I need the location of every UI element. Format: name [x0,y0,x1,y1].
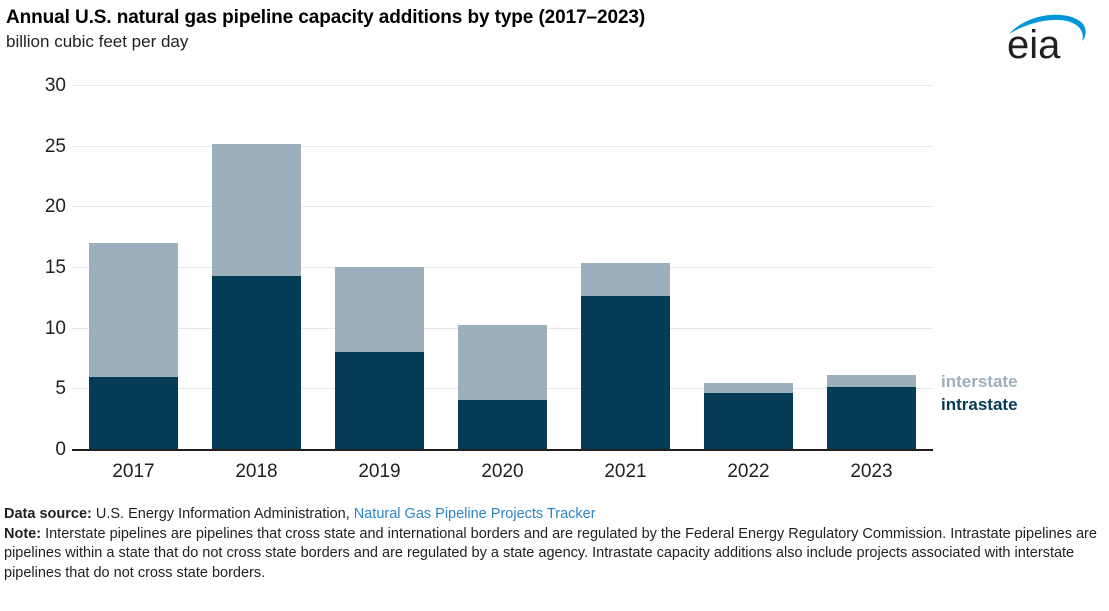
data-source-link[interactable]: Natural Gas Pipeline Projects Tracker [354,506,596,522]
note-line: Note: Interstate pipelines are pipelines… [4,525,1102,584]
bar-group-2021[interactable] [581,263,670,449]
chart-footnotes: Data source: U.S. Energy Information Adm… [4,505,1102,583]
bar-segment-intrastate-2023[interactable] [827,387,916,449]
data-source-label: Data source: [4,506,92,522]
legend-item-interstate[interactable]: interstate [941,370,1106,393]
xtick-label-2017: 2017 [72,461,195,483]
bar-segment-intrastate-2018[interactable] [212,276,301,450]
bar-segment-intrastate-2021[interactable] [581,296,670,449]
gridline-20 [72,206,933,207]
ytick-label-15: 15 [20,258,66,277]
bar-group-2017[interactable] [89,243,178,449]
ytick-label-20: 20 [20,197,66,216]
bar-segment-intrastate-2022[interactable] [704,393,793,449]
chart-legend: interstate intrastate [941,370,1106,416]
bar-segment-intrastate-2019[interactable] [335,352,424,449]
bar-group-2022[interactable] [704,383,793,449]
gridline-25 [72,146,933,147]
xtick-label-2018: 2018 [195,461,318,483]
bar-segment-interstate-2022[interactable] [704,383,793,393]
bar-segment-intrastate-2017[interactable] [89,377,178,449]
legend-item-intrastate[interactable]: intrastate [941,393,1106,416]
chart-plot-area: 30 25 20 15 10 5 0 201720182019202020212… [0,0,1109,500]
xtick-label-2020: 2020 [441,461,564,483]
ytick-label-25: 25 [20,137,66,156]
note-label: Note: [4,526,41,542]
bar-segment-interstate-2021[interactable] [581,263,670,296]
bar-segment-interstate-2020[interactable] [458,325,547,400]
bar-segment-intrastate-2020[interactable] [458,400,547,449]
gridline-30 [72,85,933,86]
bar-segment-interstate-2019[interactable] [335,267,424,352]
gridline-15 [72,267,933,268]
bar-group-2019[interactable] [335,267,424,449]
ytick-label-5: 5 [20,379,66,398]
bar-segment-interstate-2017[interactable] [89,243,178,378]
bar-segment-interstate-2018[interactable] [212,144,301,275]
note-text: Interstate pipelines are pipelines that … [4,526,1097,581]
data-source-line: Data source: U.S. Energy Information Adm… [4,505,1102,525]
ytick-label-30: 30 [20,76,66,95]
ytick-label-0: 0 [20,440,66,459]
bar-group-2018[interactable] [212,144,301,449]
bar-group-2023[interactable] [827,375,916,449]
xtick-label-2019: 2019 [318,461,441,483]
data-source-text: U.S. Energy Information Administration, [92,506,354,522]
xtick-label-2021: 2021 [564,461,687,483]
ytick-label-10: 10 [20,319,66,338]
bar-segment-interstate-2023[interactable] [827,375,916,387]
x-axis-baseline [72,449,933,451]
xtick-label-2022: 2022 [687,461,810,483]
bar-group-2020[interactable] [458,325,547,449]
xtick-label-2023: 2023 [810,461,933,483]
